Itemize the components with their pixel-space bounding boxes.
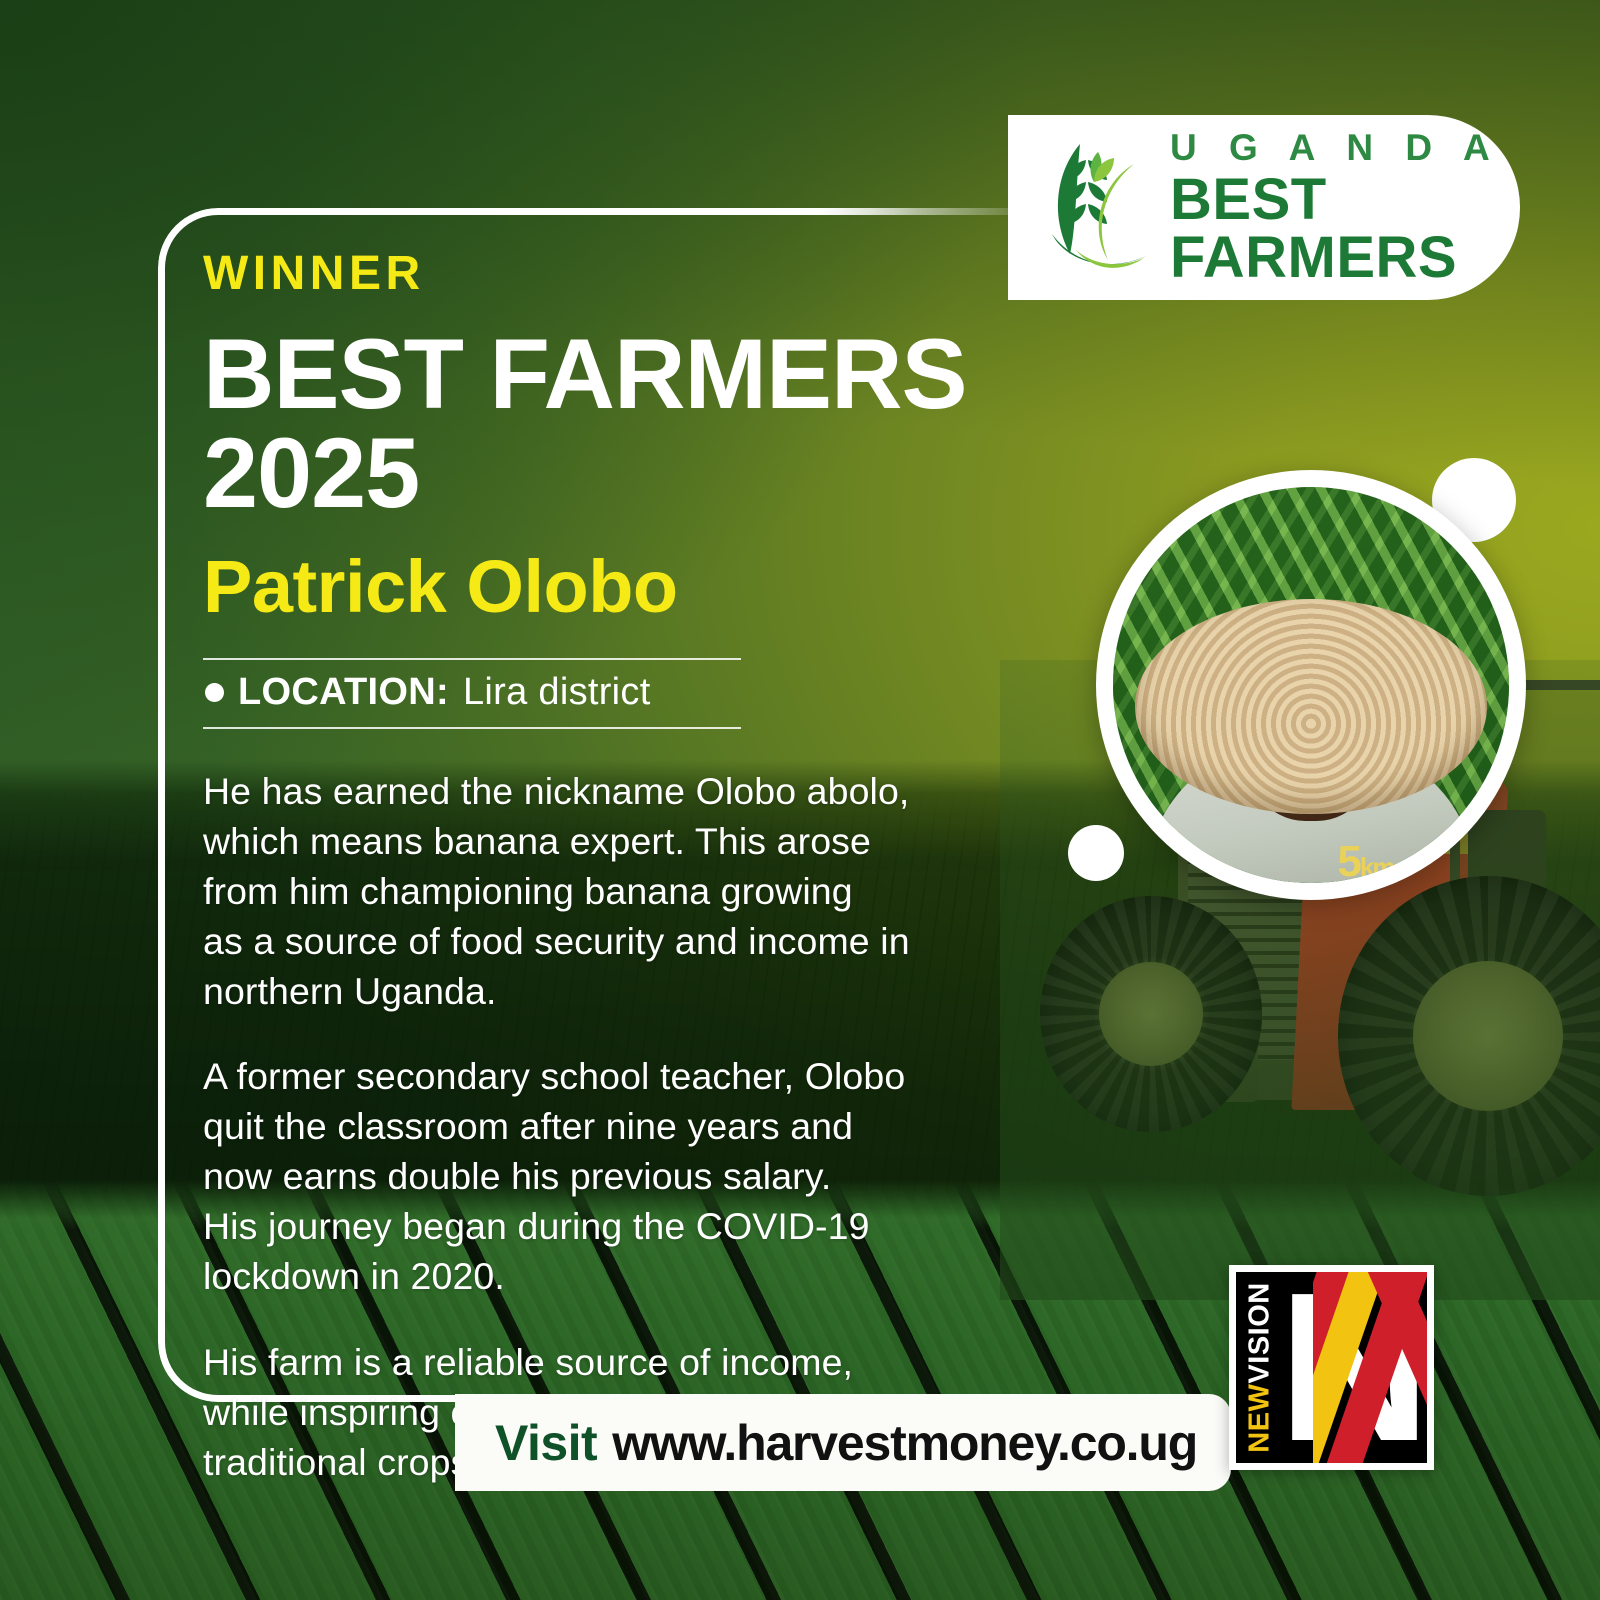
page-title: BEST FARMERS 2025 [203, 324, 973, 522]
wheat-leaf-icon [1036, 138, 1156, 278]
location-value: Lira district [463, 671, 651, 714]
bullet-dot-icon [205, 683, 224, 702]
avatar: 5km [1096, 470, 1526, 900]
paragraph-2: A former secondary school teacher, Olobo… [203, 1052, 973, 1301]
uganda-best-farmers-logo: U G A N D A BEST FARMERS [1008, 115, 1520, 300]
location-label: LOCATION: [238, 671, 449, 714]
new-vision-logo: NEWVISION N [1229, 1265, 1434, 1470]
portrait-straw-hat [1135, 599, 1487, 814]
decorative-dot-small [1068, 825, 1124, 881]
nv-word-new: NEW [1244, 1384, 1276, 1453]
award-label: WINNER [203, 250, 973, 298]
poster-canvas: U G A N D A BEST FARMERS WINNER BEST FAR… [0, 0, 1600, 1600]
website-url[interactable]: www.harvestmoney.co.ug [612, 1414, 1197, 1472]
nv-monogram-v [1313, 1272, 1427, 1463]
logo-line-best-farmers: BEST FARMERS [1170, 171, 1520, 287]
frame-top-line [218, 208, 918, 215]
location-block: LOCATION: Lira district [203, 658, 741, 729]
visit-website-bar[interactable]: Visit www.harvestmoney.co.ug [455, 1394, 1231, 1491]
portrait-shirt-text: 5km [1337, 837, 1393, 883]
logo-line-uganda: U G A N D A [1170, 129, 1520, 166]
farmer-name: Patrick Olobo [203, 550, 973, 624]
paragraph-1: He has earned the nickname Olobo abolo, … [203, 767, 973, 1016]
biography-text: He has earned the nickname Olobo abolo, … [203, 767, 973, 1487]
main-content: WINNER BEST FARMERS 2025 Patrick Olobo L… [203, 250, 973, 1487]
visit-label: Visit [495, 1414, 597, 1472]
location-rule-bottom [203, 727, 741, 729]
nv-word-vision: VISION [1244, 1282, 1276, 1383]
new-vision-wordmark: NEWVISION [1240, 1272, 1280, 1463]
